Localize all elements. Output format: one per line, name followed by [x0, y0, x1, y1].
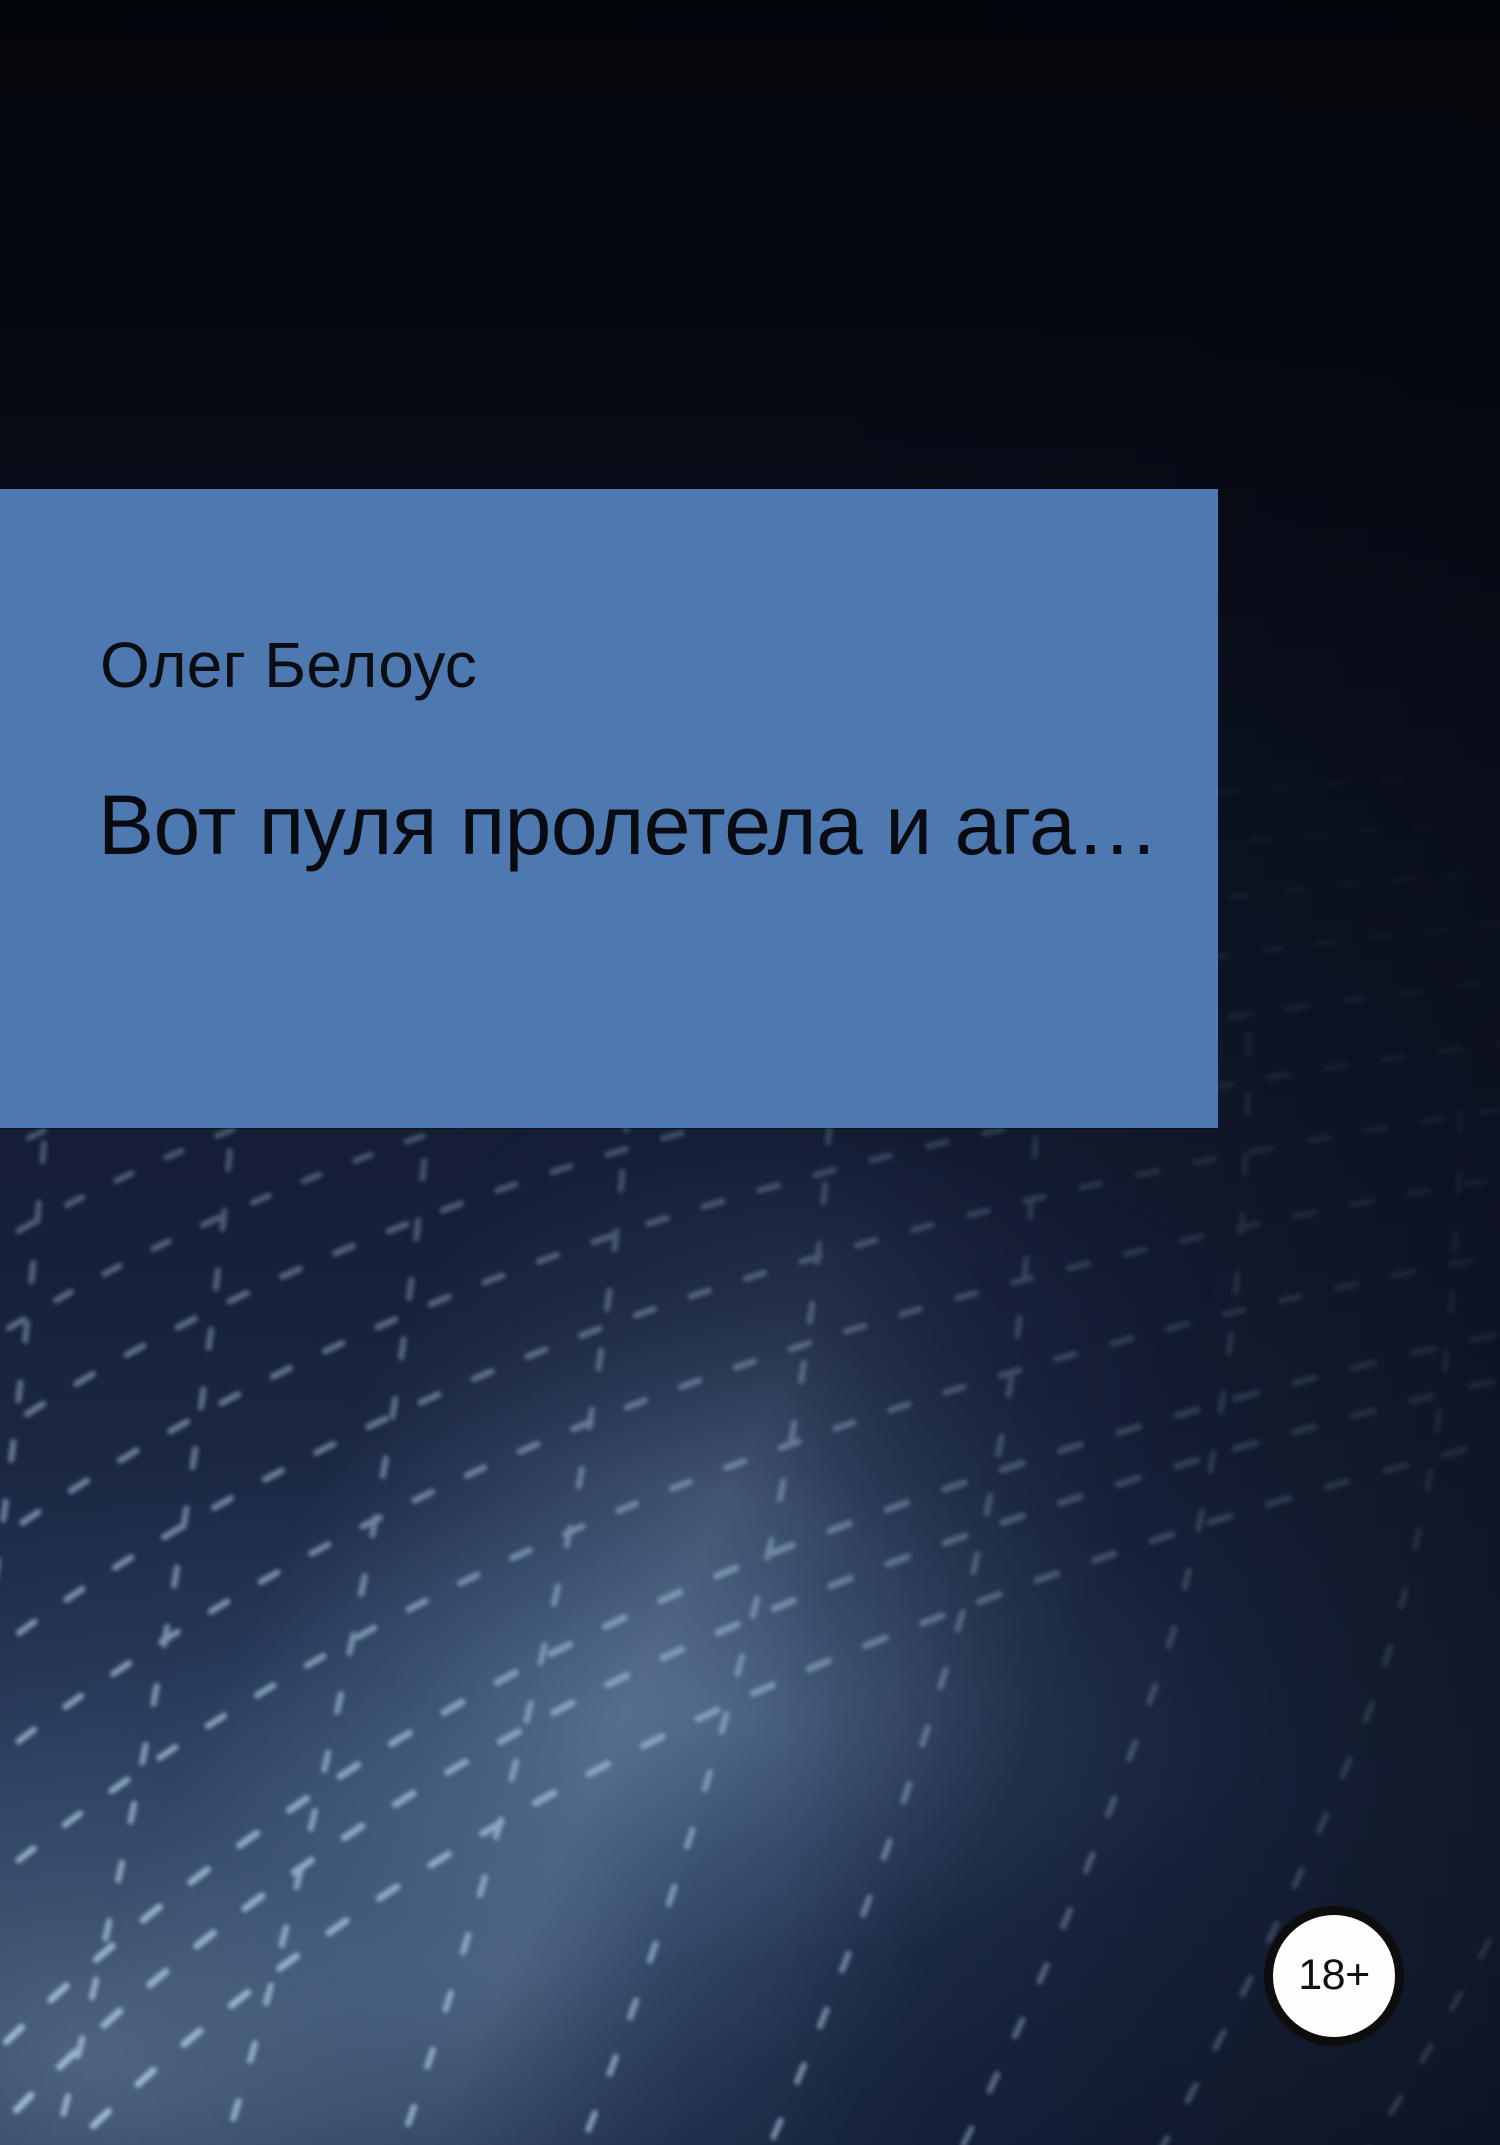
book-title: Вот пуля пролетела и ага… [98, 778, 1159, 872]
author-name: Олег Белоус [100, 630, 477, 700]
age-rating-label: 18+ [1298, 1954, 1369, 1997]
age-rating-badge: 18+ [1264, 1906, 1404, 2046]
book-cover: Олег Белоус Вот пуля пролетела и ага… 18… [0, 0, 1500, 2145]
